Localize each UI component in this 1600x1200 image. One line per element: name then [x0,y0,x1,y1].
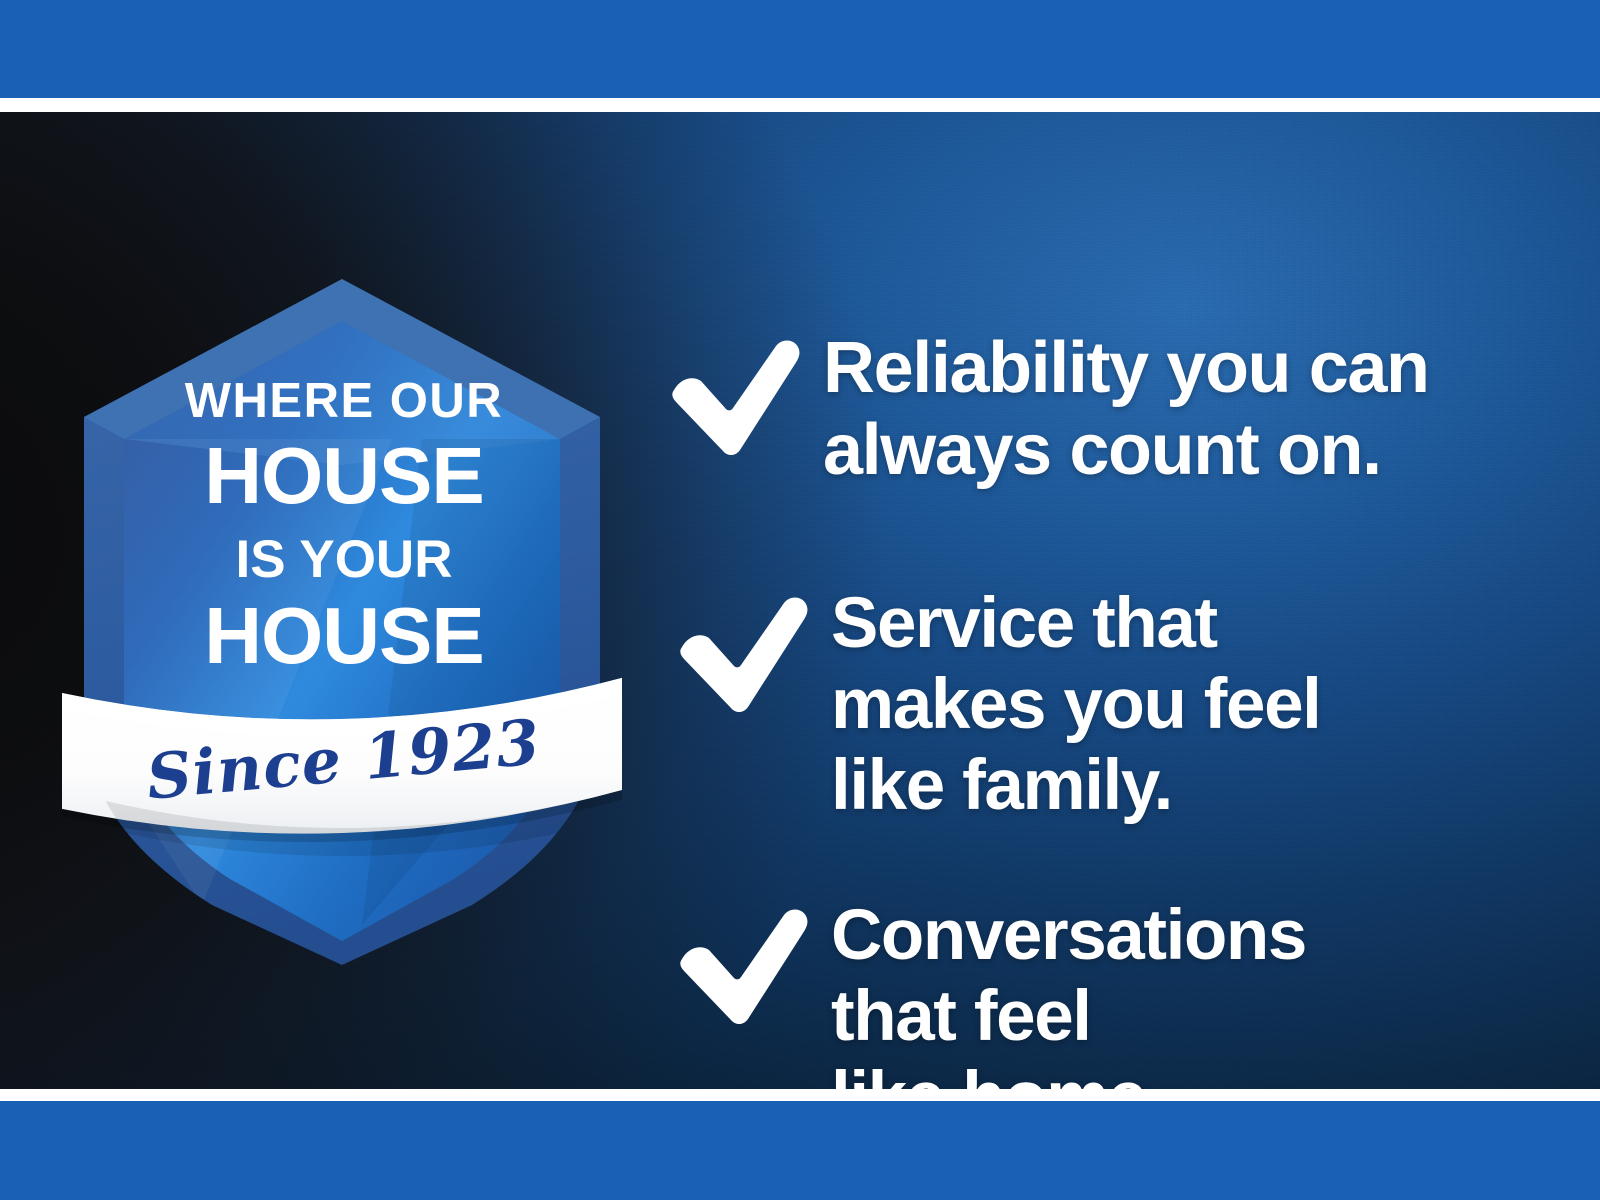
benefits-checklist: Reliability you can always count on. Ser… [668,224,1568,1089]
shield-line-1: WHERE OUR [185,374,503,428]
shield-emblem: WHERE OUR HOUSE IS YOUR HOUSE Since 1923 [62,265,622,965]
poster-stage: WHERE OUR HOUSE IS YOUR HOUSE Since 1923 [0,112,1600,1089]
bottom-brand-bar [0,1101,1600,1200]
shield-line-4: HOUSE [204,591,484,680]
checklist-item-service: Service that makes you feel like family. [676,584,1321,827]
poster-canvas: WHERE OUR HOUSE IS YOUR HOUSE Since 1923 [0,0,1600,1200]
checkmark-icon [668,333,803,465]
checklist-item-text: Service that makes you feel like family. [831,584,1321,827]
checklist-item-text: Conversations that feel like home. [831,896,1306,1089]
checklist-item-conversations: Conversations that feel like home. [676,896,1306,1089]
top-brand-bar [0,0,1600,98]
checkmark-icon [676,902,811,1034]
checklist-item-reliability: Reliability you can always count on. [668,327,1429,491]
checkmark-icon [676,590,811,722]
checklist-item-text: Reliability you can always count on. [823,327,1429,491]
shield-line-3: IS YOUR [236,530,453,589]
shield-line-2: HOUSE [204,431,484,520]
